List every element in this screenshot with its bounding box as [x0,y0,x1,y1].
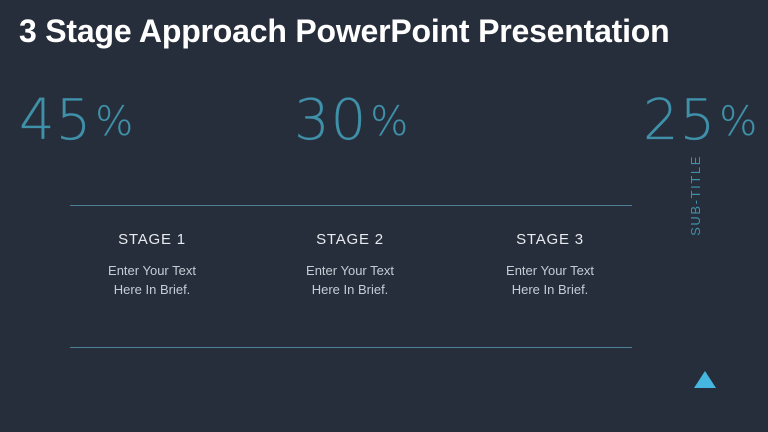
percentage-value-1: 45% [19,93,133,149]
stage-body-line-3b: Here In Brief. [455,281,645,300]
stage-column-2: STAGE 2 Enter Your Text Here In Brief. [255,231,445,300]
sub-title-vertical-label: SUB-TITLE [688,155,703,236]
stage-title-2: STAGE 2 [255,231,445,248]
stage-body-line-1a: Enter Your Text [57,262,247,281]
divider-line-top [70,205,632,206]
percent-symbol-1: % [95,99,133,145]
presentation-slide: 3 Stage Approach PowerPoint Presentation… [0,0,768,432]
stage-body-1: Enter Your Text Here In Brief. [57,262,247,300]
percentage-value-2: 30% [294,93,408,149]
percent-symbol-2: % [370,99,408,145]
stage-body-3: Enter Your Text Here In Brief. [455,262,645,300]
stage-body-line-1b: Here In Brief. [57,281,247,300]
stage-column-1: STAGE 1 Enter Your Text Here In Brief. [57,231,247,300]
page-title: 3 Stage Approach PowerPoint Presentation [19,13,759,50]
stage-body-2: Enter Your Text Here In Brief. [255,262,445,300]
stage-column-3: STAGE 3 Enter Your Text Here In Brief. [455,231,645,300]
stage-body-line-2b: Here In Brief. [255,281,445,300]
percent-symbol-3: % [719,99,757,145]
stage-title-3: STAGE 3 [455,231,645,248]
percentage-value-3: 25% [643,93,757,149]
stage-body-line-2a: Enter Your Text [255,262,445,281]
percentage-number-3: 25 [643,88,716,153]
triangle-up-icon [694,371,716,388]
divider-line-bottom [70,347,632,348]
percentage-number-2: 30 [294,88,367,153]
stage-title-1: STAGE 1 [57,231,247,248]
stage-body-line-3a: Enter Your Text [455,262,645,281]
percentage-number-1: 45 [19,88,92,153]
